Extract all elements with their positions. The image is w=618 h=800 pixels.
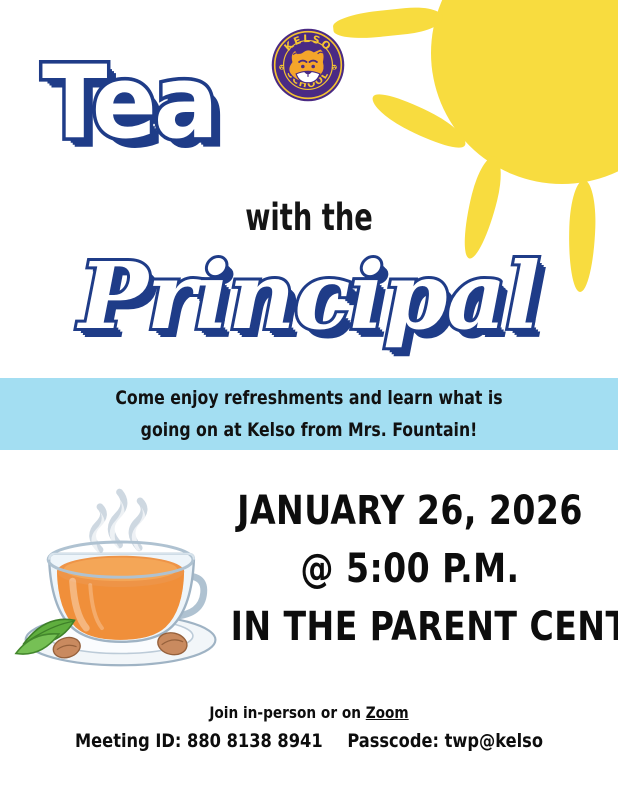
banner-line-2: going on at Kelso from Mrs. Fountain!: [25, 414, 594, 446]
headline-with-the: with the: [56, 196, 563, 239]
headline-tea: Tea: [42, 52, 216, 153]
meeting-id-label: Meeting ID:: [75, 730, 181, 752]
zoom-join-line: Join in-person or on Zoom: [15, 700, 602, 726]
zoom-link[interactable]: Zoom: [366, 703, 409, 722]
passcode-label: Passcode:: [347, 730, 439, 752]
zoom-info: Join in-person or on Zoom Meeting ID: 88…: [0, 700, 618, 756]
tiger-mascot-icon: [289, 49, 325, 83]
meeting-id-value: 880 8138 8941: [187, 730, 323, 752]
event-location: IN THE PARENT CENTER: [231, 598, 590, 656]
passcode-value: twp@kelso: [445, 730, 543, 752]
info-banner-text: Come enjoy refreshments and learn what i…: [25, 382, 594, 446]
headline-principal: Principal: [0, 248, 618, 345]
teacup-illustration: [10, 452, 235, 677]
event-date: JANUARY 26, 2026: [231, 482, 590, 540]
zoom-credentials-line: Meeting ID: 880 8138 8941Passcode: twp@k…: [15, 726, 602, 756]
zoom-join-prefix: Join in-person or on: [209, 703, 365, 722]
event-time: @ 5:00 P.M.: [231, 540, 590, 598]
banner-line-1: Come enjoy refreshments and learn what i…: [25, 382, 594, 414]
flyer-page: KELSO SCHOOL Tea with t: [0, 0, 618, 800]
kelso-school-logo-icon: KELSO SCHOOL: [271, 28, 345, 102]
sun-ray-icon: [332, 4, 444, 41]
sun-icon: [431, 0, 618, 184]
event-details: JANUARY 26, 2026 @ 5:00 P.M. IN THE PARE…: [215, 482, 605, 656]
